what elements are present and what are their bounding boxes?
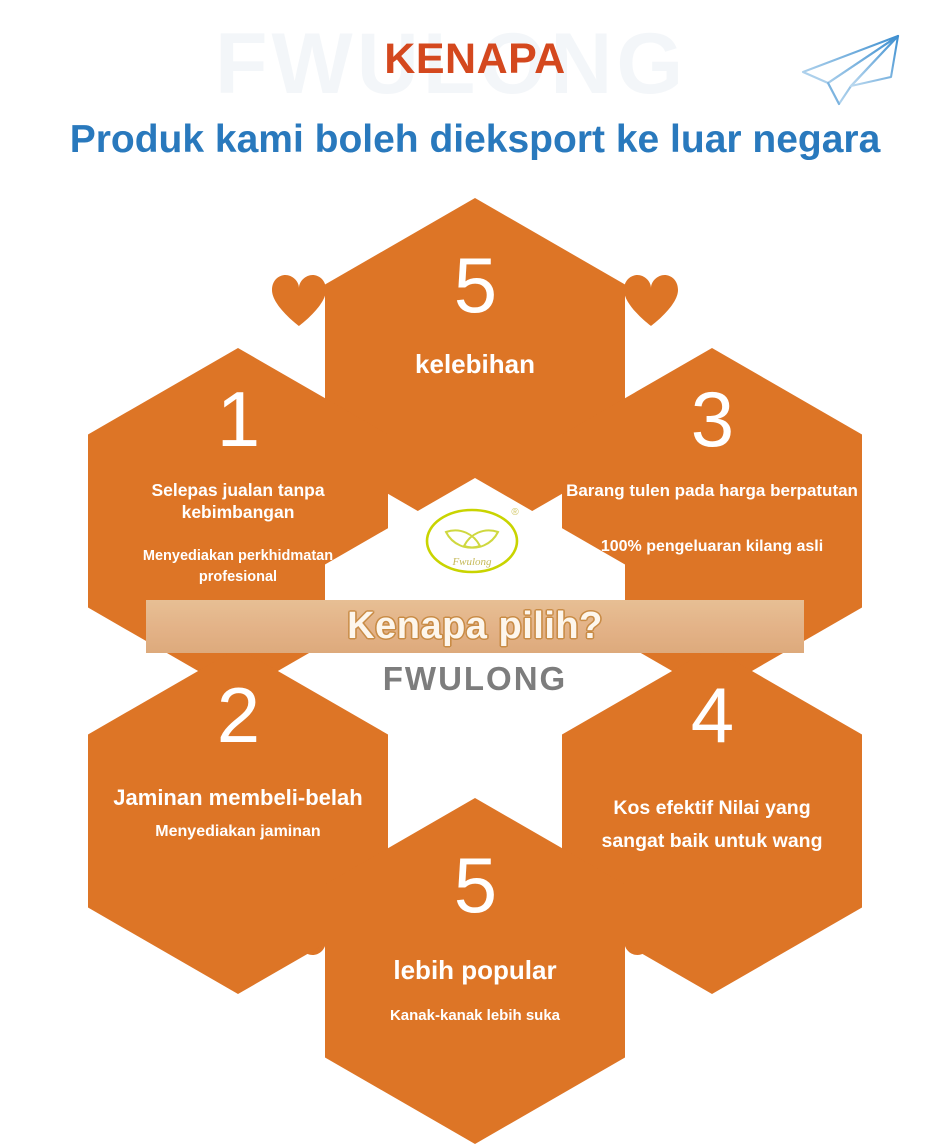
hexagon-lead-text: lebih popular (385, 954, 564, 987)
leaf-logo-mark: Fwulong ® (420, 498, 530, 584)
heart-top-left-icon (270, 273, 328, 327)
hexagon-sub-text: Menyediakan jaminan (137, 820, 338, 843)
hexagon-lead-text: kelebihan (407, 348, 543, 381)
honeycomb-group: 5 kelebihan 1 Selepas jualan tanpa kebim… (0, 188, 950, 1088)
hexagon-sub-text: Kanak-kanak lebih suka (372, 1005, 578, 1027)
hexagon-lead-text: Selepas jualan tanpa kebimbangan (88, 480, 388, 524)
infographic-canvas: FWULONG KENAPA Produk kami boleh diekspo… (0, 0, 950, 1090)
page-subtitle: Produk kami boleh dieksport ke luar nega… (0, 118, 950, 162)
logo-wordmark: Fwulong (451, 556, 492, 568)
hexagon-sub-text: 100% pengeluaran kilang asli (583, 535, 841, 558)
logo-trademark: ® (511, 507, 519, 518)
hexagon-lead-text: Jaminan membeli-belah (105, 784, 370, 812)
hexagon-number: 5 (454, 846, 496, 924)
hexagon-number: 1 (217, 380, 259, 458)
brand-wordmark: FWULONG (325, 660, 625, 698)
hexagon-number: 4 (691, 676, 733, 754)
hexagon-lead-text: Barang tulen pada harga berpatutan (558, 480, 866, 501)
hexagon-number: 2 (217, 676, 259, 754)
fwulong-leaf-logo: Fwulong ® (420, 498, 530, 584)
hexagon-lead-text: Kos efektif Nilai yang sangat baik untuk… (562, 792, 862, 858)
hexagon-number: 5 (454, 246, 496, 324)
hexagon-number: 3 (691, 380, 733, 458)
heart-top-right-icon (622, 273, 680, 327)
ribbon-label: Kenapa pilih? (146, 600, 804, 653)
paper-plane-icon (795, 28, 905, 108)
